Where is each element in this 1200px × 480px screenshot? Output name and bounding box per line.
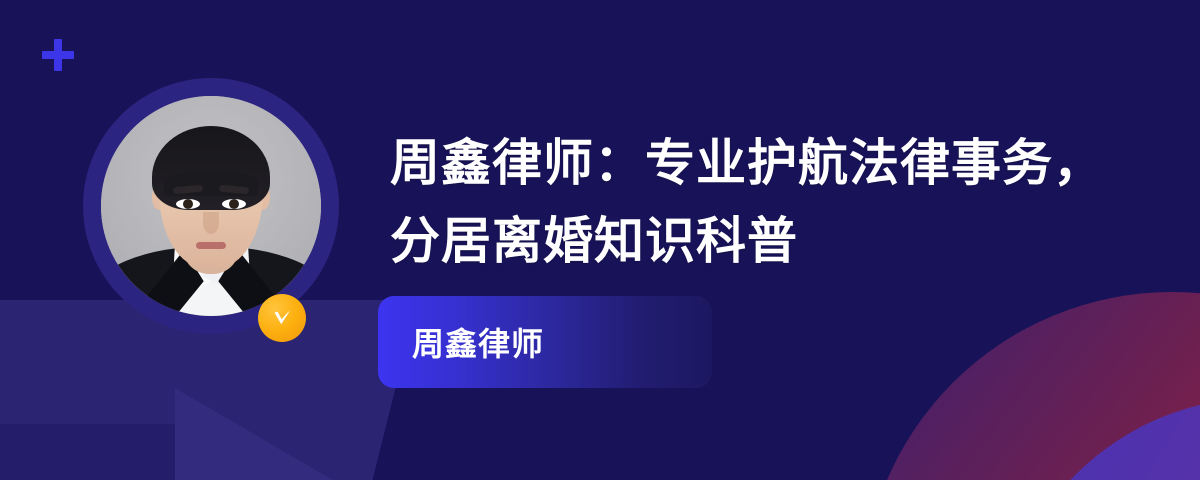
lawyer-name-chip-label: 周鑫律师	[412, 319, 544, 365]
portrait-eye-left	[176, 199, 200, 209]
portrait-mouth	[196, 242, 226, 249]
page-title: 周鑫律师：专业护航法律事务， 分居离婚知识科普	[390, 124, 1110, 280]
lawyer-profile-banner: 周鑫律师：专业护航法律事务， 分居离婚知识科普 周鑫律师	[0, 0, 1200, 480]
plus-icon	[42, 39, 74, 71]
avatar-photo	[101, 96, 321, 316]
verified-v-icon	[258, 294, 306, 342]
background-triangle	[175, 388, 415, 480]
background-arc-inner	[1000, 398, 1200, 480]
background-arc-outer	[862, 292, 1200, 480]
lawyer-name-chip[interactable]: 周鑫律师	[378, 296, 712, 388]
avatar[interactable]	[83, 78, 339, 334]
portrait-eye-right	[222, 199, 246, 209]
portrait-nose	[203, 212, 219, 234]
background-polygon-small	[0, 424, 190, 480]
